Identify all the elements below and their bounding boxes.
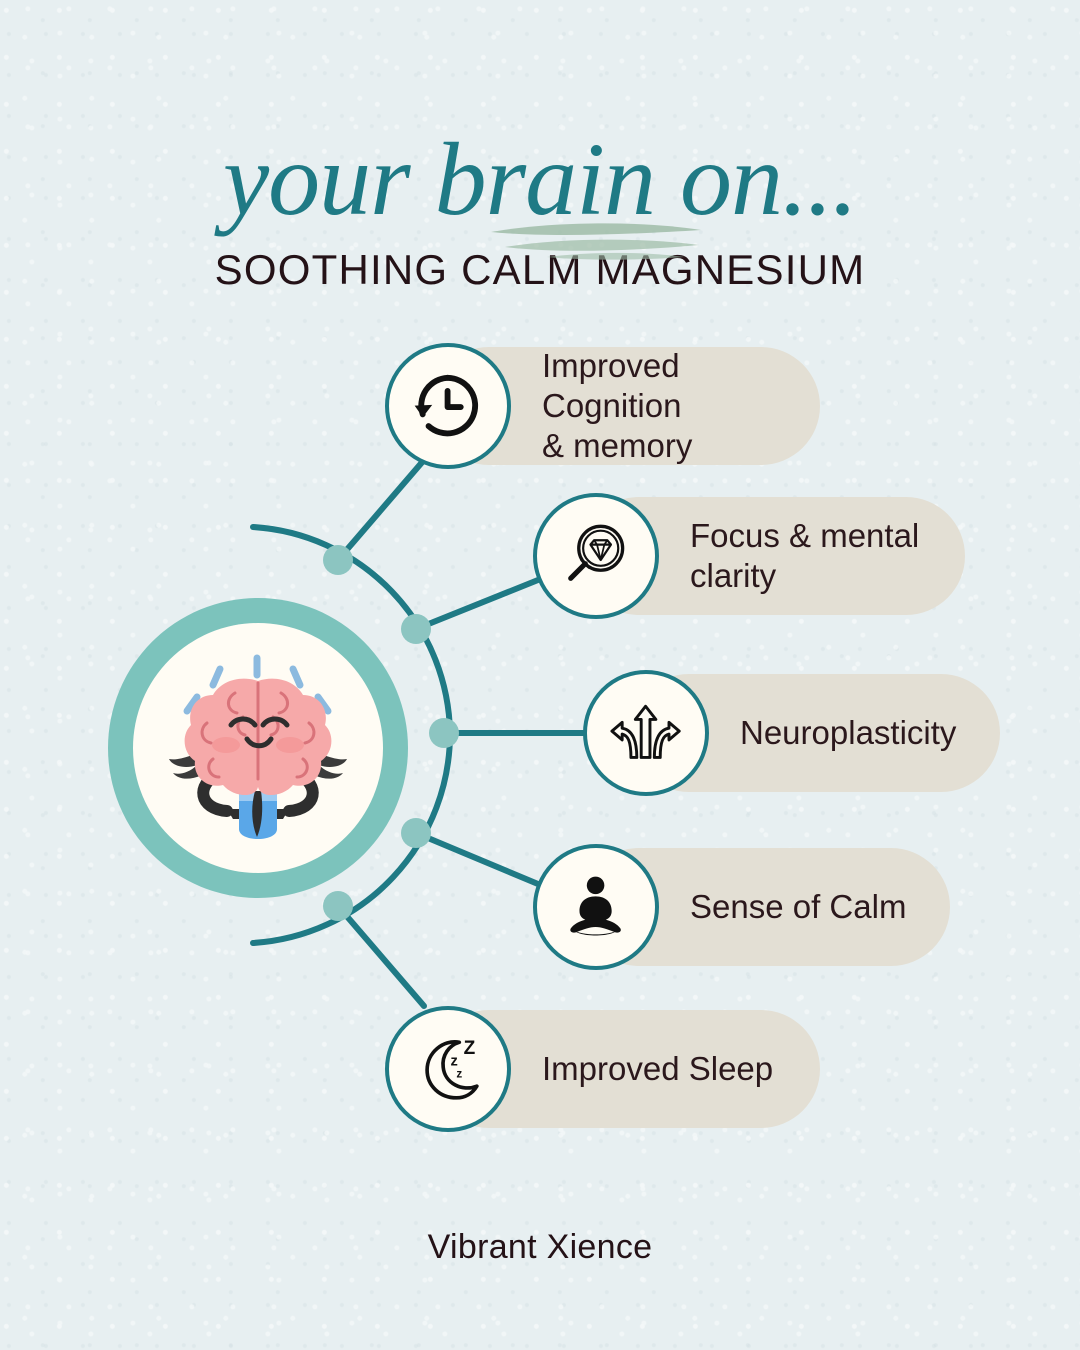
- svg-text:z: z: [457, 1068, 463, 1081]
- svg-text:Z: Z: [464, 1038, 476, 1059]
- benefit-icon-circle-sense-of-calm[interactable]: [533, 844, 659, 970]
- benefit-icon-circle-neuroplasticity[interactable]: [583, 670, 709, 796]
- central-brain-badge: [108, 598, 408, 898]
- benefit-label-improved-sleep: Improved Sleep: [542, 1049, 773, 1089]
- benefit-label-focus-mental-clarity: Focus & mental clarity: [690, 516, 919, 597]
- benefit-icon-circle-improved-cognition[interactable]: [385, 343, 511, 469]
- benefit-label-neuroplasticity: Neuroplasticity: [740, 713, 956, 753]
- blush-right: [276, 737, 304, 753]
- blush-left: [212, 737, 240, 753]
- meditation-person-icon: [559, 870, 632, 943]
- node-dot: [323, 545, 353, 575]
- brain-badge-inner: [133, 623, 383, 873]
- magnifier-gem-icon: [559, 519, 632, 592]
- benefit-icon-circle-focus-mental-clarity[interactable]: [533, 493, 659, 619]
- node-dot: [429, 718, 459, 748]
- node-dot: [401, 818, 431, 848]
- brain-cushion: [239, 791, 277, 839]
- footer: Vibrant Xience: [0, 1228, 1080, 1267]
- benefit-label-improved-cognition: Improved Cognition & memory: [542, 346, 820, 467]
- branching-arrows-icon: [609, 696, 682, 769]
- brain-body: [185, 679, 332, 795]
- infographic-canvas: your brain on... SOOTHING CALM MAGNESIUM: [0, 0, 1080, 1350]
- moon-zzz-icon: Z z z: [411, 1032, 484, 1105]
- benefit-label-sense-of-calm: Sense of Calm: [690, 887, 906, 927]
- node-dot: [401, 614, 431, 644]
- brand-name: Vibrant Xience: [428, 1228, 653, 1266]
- node-dot: [323, 891, 353, 921]
- meditating-brain-illustration: [143, 633, 373, 863]
- clock-rewind-icon: [411, 369, 484, 442]
- benefit-icon-circle-improved-sleep[interactable]: Z z z: [385, 1006, 511, 1132]
- benefits-diagram: Improved Cognition & memory Focus & ment…: [0, 0, 1080, 1350]
